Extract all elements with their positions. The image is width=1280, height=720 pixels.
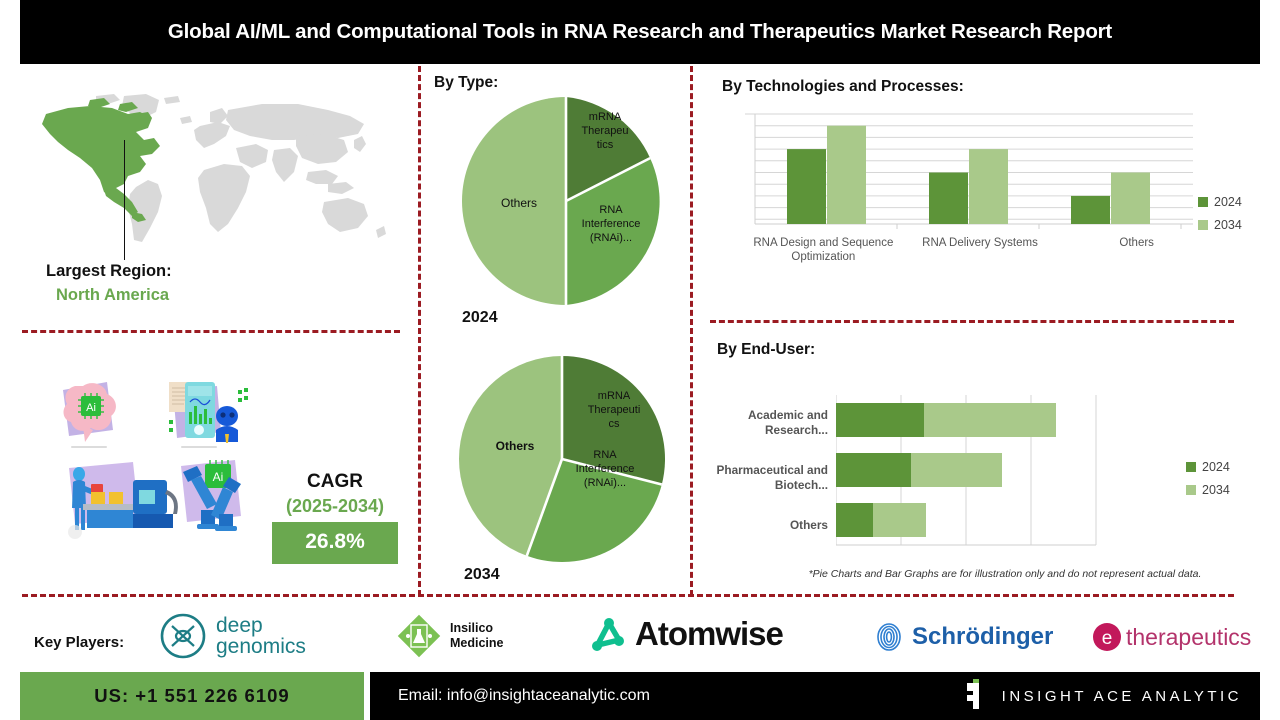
footer-brand-text: INSIGHT ACE ANALYTIC xyxy=(1002,688,1242,705)
pie-2024-year: 2024 xyxy=(462,309,498,327)
legend-label-enduser-2024: 2024 xyxy=(1202,460,1230,474)
logo-e-therapeutics-text: therapeutics xyxy=(1126,624,1251,651)
legend-item-enduser-2024: 2024 xyxy=(1186,460,1230,474)
legend-swatch-2024 xyxy=(1198,197,1208,207)
end-user-category-0: Academic and Research... xyxy=(700,408,828,438)
pie-2024-slice-rnai: RNA Interference (RNAi)... xyxy=(568,203,654,245)
logo-deep-genomics: deep genomics xyxy=(158,612,306,660)
legend-swatch-enduser-2034 xyxy=(1186,485,1196,495)
logo-deep-genomics-line1: deep xyxy=(216,615,306,636)
page-title: Global AI/ML and Computational Tools in … xyxy=(148,19,1132,45)
technologies-legend: 2024 2034 xyxy=(1198,195,1242,241)
footer-brand: INSIGHT ACE ANALYTIC xyxy=(958,679,1242,713)
divider-horizontal-right xyxy=(710,320,1234,323)
pie-2024-slice-mrna: mRNA Therapeu tics xyxy=(572,110,638,152)
report-header: Global AI/ML and Computational Tools in … xyxy=(20,0,1260,64)
pie-2034-slice-rnai: RNA Interference (RNAi)... xyxy=(562,448,648,490)
key-players-label: Key Players: xyxy=(34,634,124,651)
logo-deep-genomics-line2: genomics xyxy=(216,636,306,657)
technologies-category-labels: RNA Design and Sequence Optimization RNA… xyxy=(745,236,1215,264)
footer-phone[interactable]: US: +1 551 226 6109 xyxy=(20,672,364,720)
logo-e-therapeutics-mark: e xyxy=(1102,628,1113,649)
logo-e-therapeutics: e therapeutics xyxy=(1092,622,1251,652)
cagr-title: CAGR xyxy=(272,470,398,494)
pie-2034-slice-mrna: mRNA Therapeuti cs xyxy=(578,389,650,431)
logo-insilico-line1: Insilico xyxy=(450,621,504,636)
map-leader-line xyxy=(124,140,125,260)
end-user-legend: 2024 2034 xyxy=(1186,460,1230,506)
logo-atomwise: Atomwise xyxy=(585,612,783,656)
legend-label-2034: 2034 xyxy=(1214,218,1242,232)
legend-item-2034: 2034 xyxy=(1198,218,1242,232)
divider-horizontal-bottom xyxy=(22,594,1234,597)
largest-region-value: North America xyxy=(56,286,169,305)
divider-vertical-left xyxy=(418,66,421,596)
end-user-bar-chart xyxy=(836,395,1106,545)
footer-email[interactable]: Email: info@insightaceanalytic.com xyxy=(398,687,650,705)
logo-insilico-medicine: Insilico Medicine xyxy=(396,613,504,659)
logo-schrodinger: Schrödinger xyxy=(872,620,1053,654)
cagr-years: (2025-2034) xyxy=(272,494,398,518)
technologies-category-0: RNA Design and Sequence Optimization xyxy=(745,236,902,264)
legend-item-enduser-2034: 2034 xyxy=(1186,483,1230,497)
chart-footnote: *Pie Charts and Bar Graphs are for illus… xyxy=(745,568,1265,580)
logo-schrodinger-text: Schrödinger xyxy=(912,623,1053,651)
end-user-category-2: Others xyxy=(700,518,828,533)
by-end-user-title: By End-User: xyxy=(717,341,815,359)
technologies-category-1: RNA Delivery Systems xyxy=(902,236,1059,264)
legend-item-2024: 2024 xyxy=(1198,195,1242,209)
technologies-category-2: Others xyxy=(1058,236,1215,264)
cagr-block: CAGR (2025-2034) 26.8% xyxy=(272,470,398,564)
technologies-bar-chart xyxy=(745,112,1215,232)
legend-label-2024: 2024 xyxy=(1214,195,1242,209)
by-type-title: By Type: xyxy=(434,74,498,92)
pie-2024-slice-others: Others xyxy=(487,196,551,210)
ai-illustration: Ai xyxy=(55,368,270,568)
legend-swatch-2034 xyxy=(1198,220,1208,230)
end-user-category-1: Pharmaceutical and Biotech... xyxy=(700,463,828,493)
legend-label-enduser-2034: 2034 xyxy=(1202,483,1230,497)
largest-region-label: Largest Region: xyxy=(46,262,172,281)
divider-vertical-right xyxy=(690,66,693,596)
svg-text:Ai: Ai xyxy=(86,402,96,414)
pie-2034-year: 2034 xyxy=(464,566,500,584)
world-map xyxy=(28,92,400,252)
divider-horizontal-left xyxy=(22,330,400,333)
by-technologies-title: By Technologies and Processes: xyxy=(722,78,964,96)
cagr-value: 26.8% xyxy=(272,522,398,564)
logo-atomwise-text: Atomwise xyxy=(635,615,783,653)
pie-2034-slice-others: Others xyxy=(483,439,547,453)
brand-logo-icon xyxy=(958,679,988,713)
logo-insilico-line2: Medicine xyxy=(450,636,504,651)
footer-bar: Email: info@insightaceanalytic.com INSIG… xyxy=(370,672,1260,720)
end-user-category-labels: Academic and Research... Pharmaceutical … xyxy=(700,395,828,545)
legend-swatch-enduser-2024 xyxy=(1186,462,1196,472)
svg-text:Ai: Ai xyxy=(213,470,224,484)
